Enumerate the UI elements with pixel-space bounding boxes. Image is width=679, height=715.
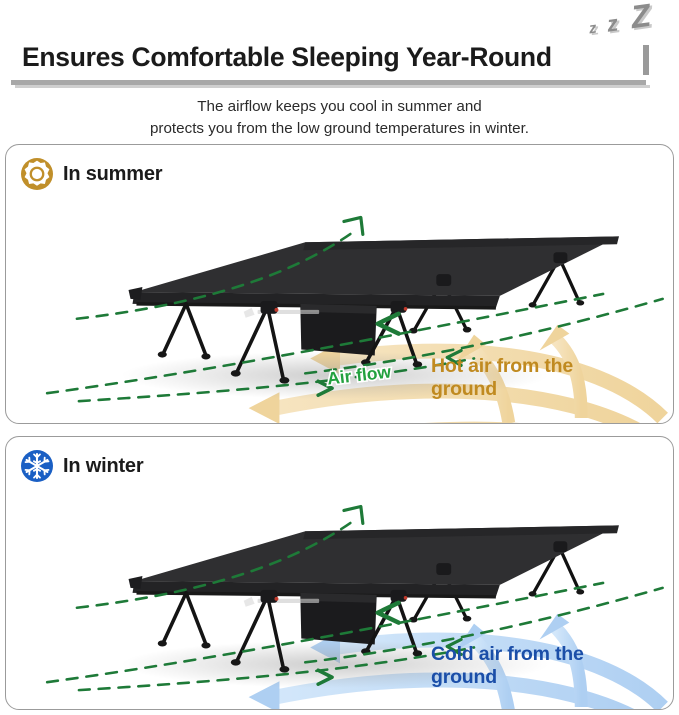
cold-air-label-line-1: Cold air from the	[431, 643, 656, 666]
sleep-z-small: z	[588, 20, 598, 38]
hot-air-label: Hot air from the ground	[431, 355, 656, 400]
title-block: Ensures Comfortable Sleeping Year-Round	[22, 44, 662, 72]
cold-air-label-line-2: ground	[431, 666, 656, 689]
sleep-z-medium: z	[605, 10, 620, 37]
summer-label: In summer	[63, 163, 162, 186]
subtitle: The airflow keeps you cool in summer and…	[0, 96, 679, 139]
hot-air-label-line-2: ground	[431, 378, 656, 401]
infographic-page: z z Z Ensures Comfortable Sleeping Year-…	[0, 0, 679, 715]
subtitle-line-2: protects you from the low ground tempera…	[0, 118, 679, 140]
snowflake-icon	[20, 449, 54, 483]
cot-corner-tab-winter	[129, 576, 143, 589]
page-title: Ensures Comfortable Sleeping Year-Round	[22, 44, 662, 72]
sleep-zzz-decoration: z z Z	[587, 2, 667, 44]
subtitle-line-1: The airflow keeps you cool in summer and	[0, 96, 679, 118]
sleep-z-large: Z	[629, 0, 654, 36]
sun-icon	[20, 157, 54, 191]
summer-header: In summer	[20, 157, 162, 191]
winter-label: In winter	[63, 455, 143, 478]
title-underline-bar	[11, 80, 646, 85]
title-right-accent-bar	[643, 45, 649, 75]
hot-air-label-line-1: Hot air from the	[431, 355, 656, 378]
cold-air-label: Cold air from the ground	[431, 643, 656, 688]
cot-corner-tab	[129, 287, 143, 300]
winter-header: In winter	[20, 449, 143, 483]
